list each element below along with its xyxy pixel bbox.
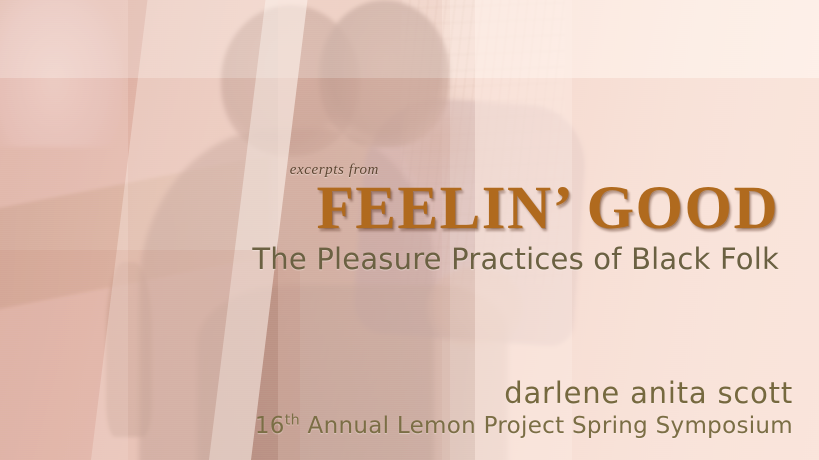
page-subtitle: The Pleasure Practices of Black Folk xyxy=(0,243,779,277)
event-number: 16 xyxy=(255,413,285,439)
title-slide: excerpts from FEELIN’ GOOD The Pleasure … xyxy=(0,0,819,460)
event-name: 16th Annual Lemon Project Spring Symposi… xyxy=(0,412,793,441)
event-ordinal-suffix: th xyxy=(285,412,300,428)
speaker-name: darlene anita scott xyxy=(0,378,793,410)
title-block: excerpts from FEELIN’ GOOD The Pleasure … xyxy=(0,162,779,276)
event-title: Annual Lemon Project Spring Symposium xyxy=(300,413,793,439)
byline-block: darlene anita scott 16th Annual Lemon Pr… xyxy=(0,378,793,441)
page-title: FEELIN’ GOOD xyxy=(0,180,779,239)
